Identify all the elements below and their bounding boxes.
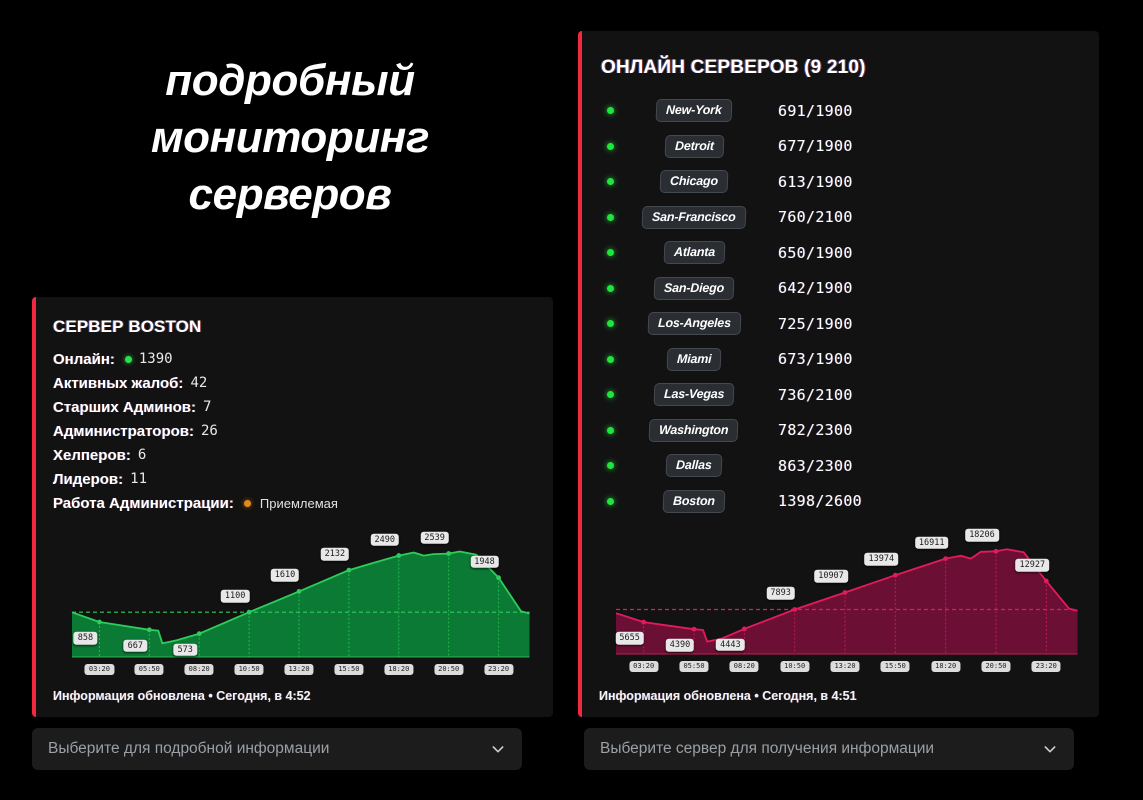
updated-note: Информация обновлена • Сегодня, в 4:52 bbox=[53, 689, 311, 703]
server-name-chip: Dallas bbox=[666, 454, 722, 477]
status-dot-online bbox=[607, 462, 614, 469]
server-list: New-York691/1900Detroit677/1900Chicago61… bbox=[598, 93, 1078, 519]
chart-data-point bbox=[994, 549, 999, 554]
status-dot-online bbox=[607, 320, 614, 327]
server-name-chip-wrap: Las-Vegas bbox=[630, 383, 758, 406]
stat-value: 26 bbox=[201, 423, 218, 439]
chart-tick-label: 20:50 bbox=[434, 664, 463, 675]
chart-value-label: 2132 bbox=[321, 548, 349, 561]
server-list-item[interactable]: Detroit677/1900 bbox=[598, 129, 1078, 165]
chart-tick-label: 03:20 bbox=[85, 664, 114, 675]
chevron-down-icon bbox=[490, 741, 506, 757]
chart-tick-label: 13:20 bbox=[830, 661, 859, 672]
stat-row: Лидеров:11 bbox=[53, 467, 338, 491]
server-stats-list: Онлайн:1390Активных жалоб:42Старших Адми… bbox=[53, 347, 338, 515]
stat-row: Онлайн:1390 bbox=[53, 347, 338, 371]
chart-tick-label: 18:20 bbox=[384, 664, 413, 675]
chart-value-label: 12927 bbox=[1016, 559, 1050, 572]
chart-value-label: 858 bbox=[74, 632, 97, 645]
server-list-item[interactable]: Miami673/1900 bbox=[598, 342, 1078, 378]
server-name-chip-wrap: Detroit bbox=[630, 135, 758, 158]
status-dot-online bbox=[607, 178, 614, 185]
server-name-chip: Detroit bbox=[664, 135, 724, 158]
status-dot-online bbox=[125, 356, 132, 363]
chart-data-point bbox=[792, 607, 797, 612]
stat-value: 42 bbox=[190, 375, 207, 391]
chart-value-label: 4390 bbox=[666, 639, 694, 652]
status-dot-online bbox=[607, 214, 614, 221]
server-online-count: 782/2300 bbox=[778, 421, 853, 439]
headline-line-2: мониторинг bbox=[30, 109, 550, 166]
total-online-history-chart: 5655439044437893109071397416911182061292… bbox=[590, 536, 1088, 678]
app-root: подробный мониторинг серверов СЕРВЕР BOS… bbox=[0, 0, 1143, 800]
chart-data-point bbox=[496, 575, 501, 580]
server-online-count: 736/2100 bbox=[778, 386, 853, 404]
chart-tick-label: 05:50 bbox=[679, 661, 708, 672]
stat-row: Хелперов:6 bbox=[53, 443, 338, 467]
chart-tick-label: 10:50 bbox=[780, 661, 809, 672]
status-dot-online bbox=[607, 391, 614, 398]
server-name-chip-wrap: Atlanta bbox=[630, 241, 758, 264]
chart-tick-label: 13:20 bbox=[284, 664, 313, 675]
chart-data-point bbox=[446, 551, 451, 556]
stat-row: Администраторов:26 bbox=[53, 419, 338, 443]
chart-tick-label: 08:20 bbox=[730, 661, 759, 672]
server-online-count: 863/2300 bbox=[778, 457, 853, 475]
chart-value-label: 2490 bbox=[371, 533, 399, 546]
stat-row: Активных жалоб:42 bbox=[53, 371, 338, 395]
stat-value: 1390 bbox=[139, 351, 173, 367]
stat-value: 6 bbox=[138, 447, 146, 463]
stat-value: 7 bbox=[203, 399, 211, 415]
server-name-chip: New-York bbox=[656, 99, 732, 122]
chart-data-point bbox=[297, 589, 302, 594]
chart-value-label: 7893 bbox=[766, 587, 794, 600]
server-name-chip-wrap: New-York bbox=[630, 99, 758, 122]
stat-value: 11 bbox=[130, 471, 147, 487]
status-dot-online bbox=[607, 107, 614, 114]
server-name-chip: Los-Angeles bbox=[647, 312, 741, 335]
server-name-chip: San-Francisco bbox=[642, 206, 746, 229]
chart-data-point bbox=[97, 620, 102, 625]
server-name-chip: Boston bbox=[663, 490, 726, 513]
server-online-count: 650/1900 bbox=[778, 244, 853, 262]
updated-note: Информация обновлена • Сегодня, в 4:51 bbox=[599, 689, 857, 703]
server-detail-panel: СЕРВЕР BOSTON Онлайн:1390Активных жалоб:… bbox=[32, 297, 553, 717]
chart-data-point bbox=[641, 620, 646, 625]
status-dot-online bbox=[607, 498, 614, 505]
server-online-count: 677/1900 bbox=[778, 137, 853, 155]
server-online-count: 613/1900 bbox=[778, 173, 853, 191]
chart-data-point bbox=[943, 556, 948, 561]
server-list-item[interactable]: Dallas863/2300 bbox=[598, 448, 1078, 484]
detail-info-select-placeholder: Выберите для подробной информации bbox=[48, 740, 490, 758]
chart-tick-label: 18:20 bbox=[931, 661, 960, 672]
server-name-chip-wrap: Miami bbox=[630, 348, 758, 371]
servers-online-panel: ОНЛАЙН СЕРВЕРОВ (9 210) New-York691/1900… bbox=[578, 31, 1099, 717]
headline: подробный мониторинг серверов bbox=[30, 52, 550, 223]
chart-tick-label: 23:20 bbox=[1032, 661, 1061, 672]
server-name-chip-wrap: Los-Angeles bbox=[630, 312, 758, 335]
server-name-chip: Las-Vegas bbox=[653, 383, 734, 406]
chart-value-label: 5655 bbox=[615, 632, 643, 645]
stat-label: Работа Администрации: bbox=[53, 495, 234, 512]
server-online-count: 725/1900 bbox=[778, 315, 853, 333]
chart-data-point bbox=[346, 568, 351, 573]
stat-label: Администраторов: bbox=[53, 423, 194, 440]
server-select-placeholder: Выберите сервер для получения информации bbox=[600, 740, 1042, 758]
server-name-chip-wrap: Washington bbox=[630, 419, 758, 442]
server-online-count: 760/2100 bbox=[778, 208, 853, 226]
stat-label: Хелперов: bbox=[53, 447, 131, 464]
server-online-count: 691/1900 bbox=[778, 102, 853, 120]
chart-value-label: 13974 bbox=[865, 553, 899, 566]
chart-svg bbox=[46, 539, 540, 681]
detail-info-select[interactable]: Выберите для подробной информации bbox=[32, 728, 522, 770]
chart-tick-label: 23:20 bbox=[484, 664, 513, 675]
stat-row: Старших Админов:7 bbox=[53, 395, 338, 419]
status-dot-online bbox=[607, 143, 614, 150]
stat-label: Старших Админов: bbox=[53, 399, 196, 416]
chart-value-label: 667 bbox=[124, 640, 147, 653]
chart-data-point bbox=[396, 553, 401, 558]
status-dot-online bbox=[607, 285, 614, 292]
server-list-item[interactable]: Washington782/2300 bbox=[598, 413, 1078, 449]
server-list-item[interactable]: Atlanta650/1900 bbox=[598, 235, 1078, 271]
server-list-item[interactable]: Los-Angeles725/1900 bbox=[598, 306, 1078, 342]
server-name-chip-wrap: San-Francisco bbox=[630, 206, 758, 229]
panel-title: ОНЛАЙН СЕРВЕРОВ (9 210) bbox=[601, 57, 866, 79]
server-name-chip-wrap: Boston bbox=[630, 490, 758, 513]
stat-label: Активных жалоб: bbox=[53, 375, 183, 392]
chevron-down-icon bbox=[1042, 741, 1058, 757]
server-name-chip: Washington bbox=[649, 419, 739, 442]
status-dot-online bbox=[607, 249, 614, 256]
chart-data-point bbox=[247, 610, 252, 615]
server-list-item[interactable]: San-Francisco760/2100 bbox=[598, 200, 1078, 236]
chart-tick-label: 03:20 bbox=[629, 661, 658, 672]
stat-value: Приемлемая bbox=[260, 496, 338, 511]
server-online-count: 673/1900 bbox=[778, 350, 853, 368]
server-name-chip: Miami bbox=[666, 348, 721, 371]
server-list-item[interactable]: Boston1398/2600 bbox=[598, 484, 1078, 520]
online-history-chart-boston: 85866757311001610213224902539194803:2005… bbox=[46, 539, 540, 681]
server-list-item[interactable]: San-Diego642/1900 bbox=[598, 271, 1078, 307]
chart-value-label: 1610 bbox=[271, 569, 299, 582]
server-name-chip-wrap: Chicago bbox=[630, 170, 758, 193]
server-list-item[interactable]: New-York691/1900 bbox=[598, 93, 1078, 129]
status-dot-online bbox=[607, 427, 614, 434]
chart-tick-label: 05:50 bbox=[135, 664, 164, 675]
chart-value-label: 10907 bbox=[814, 570, 848, 583]
chart-value-label: 1948 bbox=[470, 555, 498, 568]
server-name-chip: Chicago bbox=[660, 170, 729, 193]
status-dot-online bbox=[607, 356, 614, 363]
server-online-count: 1398/2600 bbox=[778, 492, 862, 510]
chart-svg bbox=[590, 536, 1088, 678]
server-list-item[interactable]: Las-Vegas736/2100 bbox=[598, 377, 1078, 413]
chart-data-point bbox=[742, 627, 747, 632]
chart-value-label: 2539 bbox=[420, 531, 448, 544]
chart-data-point bbox=[893, 573, 898, 578]
panel-title: СЕРВЕР BOSTON bbox=[53, 317, 201, 337]
chart-value-label: 16911 bbox=[915, 536, 949, 549]
server-name-chip: Atlanta bbox=[663, 241, 725, 264]
chart-tick-label: 08:20 bbox=[185, 664, 214, 675]
server-name-chip: San-Diego bbox=[654, 277, 735, 300]
chart-value-label: 573 bbox=[174, 643, 197, 656]
chart-value-label: 4443 bbox=[716, 639, 744, 652]
chart-tick-label: 15:50 bbox=[881, 661, 910, 672]
chart-data-point bbox=[1044, 579, 1049, 584]
server-list-item[interactable]: Chicago613/1900 bbox=[598, 164, 1078, 200]
server-name-chip-wrap: Dallas bbox=[630, 454, 758, 477]
chart-value-label: 1100 bbox=[221, 590, 249, 603]
server-name-chip-wrap: San-Diego bbox=[630, 277, 758, 300]
headline-line-3: серверов bbox=[30, 166, 550, 223]
chart-tick-label: 15:50 bbox=[334, 664, 363, 675]
chart-data-point bbox=[692, 627, 697, 632]
chart-data-point bbox=[147, 627, 152, 632]
server-select[interactable]: Выберите сервер для получения информации bbox=[584, 728, 1074, 770]
chart-data-point bbox=[197, 631, 202, 636]
chart-data-point bbox=[843, 590, 848, 595]
server-online-count: 642/1900 bbox=[778, 279, 853, 297]
stat-label: Лидеров: bbox=[53, 471, 123, 488]
stat-row: Работа Администрации:Приемлемая bbox=[53, 491, 338, 515]
chart-tick-label: 20:50 bbox=[981, 661, 1010, 672]
chart-value-label: 18206 bbox=[965, 529, 999, 542]
headline-line-1: подробный bbox=[30, 52, 550, 109]
chart-tick-label: 10:50 bbox=[235, 664, 264, 675]
status-dot-amber bbox=[244, 500, 251, 507]
stat-label: Онлайн: bbox=[53, 351, 115, 368]
